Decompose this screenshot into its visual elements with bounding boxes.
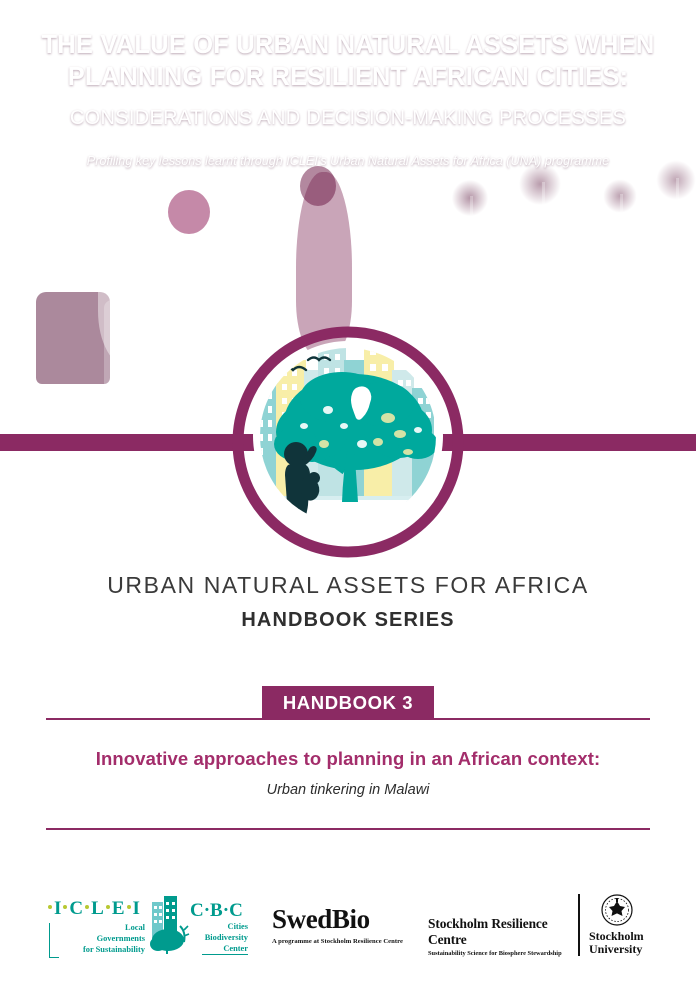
cbc-logo: C·B·C Cities Biodiversity Center xyxy=(150,894,250,960)
iclei-dot-icon xyxy=(106,905,110,909)
page-title-line-1: THE VALUE OF URBAN NATURAL ASSETS WHEN xyxy=(40,30,656,62)
su-line-2: University xyxy=(589,943,644,956)
person-head xyxy=(300,166,336,206)
person-head xyxy=(168,190,210,234)
iclei-dot-icon xyxy=(127,905,131,909)
subject-headline: Innovative approaches to planning in an … xyxy=(0,748,696,770)
iclei-tagline-3: for Sustainability xyxy=(59,945,145,956)
cbc-underline xyxy=(202,954,248,955)
su-line-1: Stockholm xyxy=(589,930,644,943)
person-head xyxy=(46,196,92,246)
logo-separator xyxy=(578,894,580,956)
subject-block: Innovative approaches to planning in an … xyxy=(0,748,696,798)
swedbio-tagline: A programme at Stockholm Resilience Cent… xyxy=(272,938,412,945)
person-head xyxy=(224,182,266,226)
tree-trunk xyxy=(542,182,545,274)
iclei-wordmark: I C L E I xyxy=(46,898,146,920)
subject-subline: Urban tinkering in Malawi xyxy=(0,782,696,798)
cbc-tagline-2: Biodiversity xyxy=(182,933,248,944)
series-block: URBAN NATURAL ASSETS FOR AFRICA HANDBOOK… xyxy=(0,572,696,632)
page-subtitle: CONSIDERATIONS AND DECISION-MAKING PROCE… xyxy=(30,107,666,130)
stockholm-university-logo: Stockholm University xyxy=(585,894,665,958)
tree-trunk xyxy=(470,196,473,272)
iclei-dot-icon xyxy=(48,905,52,909)
page-title-line-2: PLANNING FOR RESILIENT AFRICAN CITIES: xyxy=(40,62,656,94)
iclei-bracket-icon xyxy=(49,923,59,958)
series-subtitle: HANDBOOK SERIES xyxy=(0,609,696,632)
swedbio-logo: SwedBio A programme at Stockholm Resilie… xyxy=(272,904,412,945)
partner-logo-row: I C L E I Local Governments for Sustaina… xyxy=(0,888,696,968)
tree-trunk xyxy=(676,178,679,274)
iclei-tagline-2: Governments xyxy=(59,934,145,945)
cbc-tagline-1: Cities xyxy=(182,922,248,933)
iclei-tagline-1: Local xyxy=(59,923,145,934)
stockholm-university-crest-icon xyxy=(599,894,635,928)
iclei-dot-icon xyxy=(63,905,67,909)
stockholm-resilience-centre-logo: Stockholm Resilience Centre Sustainabili… xyxy=(428,916,588,957)
page-tagline: Profiling key lessons learnt through ICL… xyxy=(20,154,676,168)
divider-rule-bottom xyxy=(46,828,650,830)
tree-trunk xyxy=(620,194,623,274)
swedbio-wordmark: SwedBio xyxy=(272,904,412,935)
iclei-logo: I C L E I Local Governments for Sustaina… xyxy=(46,898,146,958)
cover-title-block: THE VALUE OF URBAN NATURAL ASSETS WHEN P… xyxy=(0,30,696,168)
divider-rule-top xyxy=(46,718,650,720)
handbook-badge-row: HANDBOOK 3 xyxy=(0,686,696,720)
document-cover-page: THE VALUE OF URBAN NATURAL ASSETS WHEN P… xyxy=(0,0,696,981)
person-head xyxy=(110,168,154,216)
handbook-number-badge: HANDBOOK 3 xyxy=(262,686,434,720)
src-tagline: Sustainability Science for Biosphere Ste… xyxy=(428,950,588,957)
src-wordmark: Stockholm Resilience Centre xyxy=(428,916,588,948)
iclei-dot-icon xyxy=(85,905,89,909)
urban-natural-assets-emblem xyxy=(232,326,464,558)
cbc-wordmark: C·B·C xyxy=(190,900,243,922)
series-title: URBAN NATURAL ASSETS FOR AFRICA xyxy=(0,572,696,599)
